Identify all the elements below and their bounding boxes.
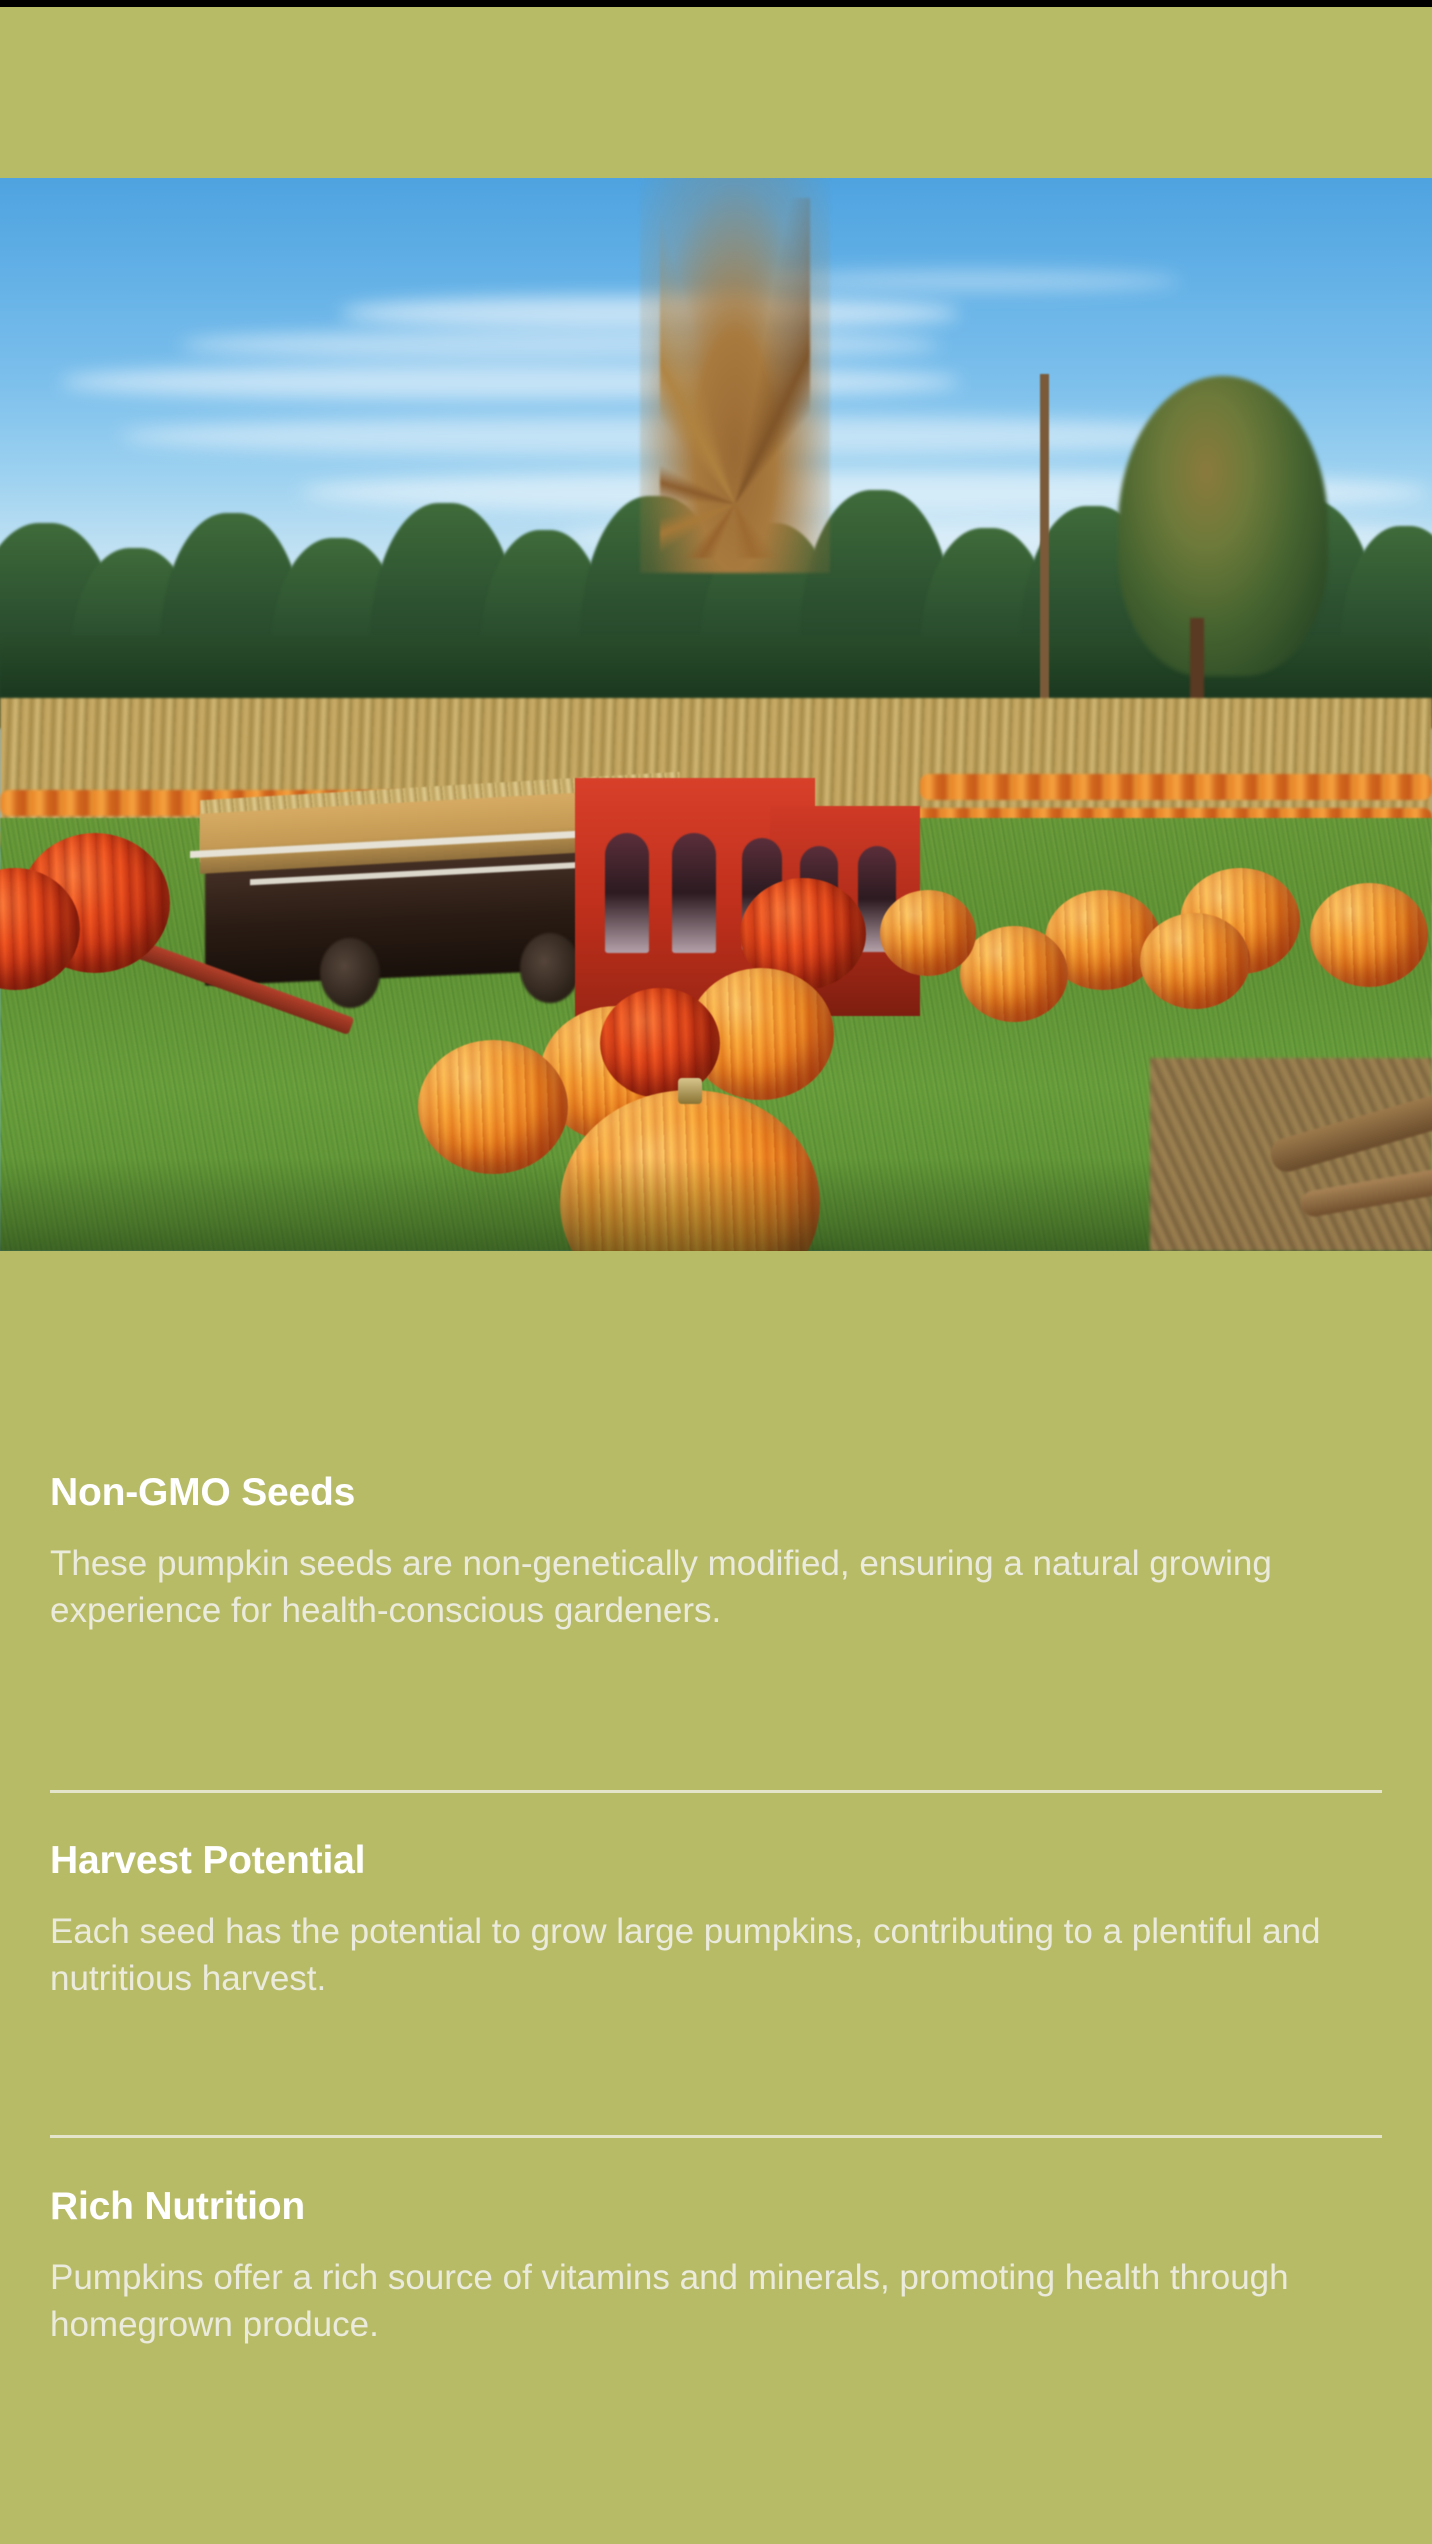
feature-body: Pumpkins offer a rich source of vitamins…	[50, 2254, 1370, 2348]
pumpkin	[960, 926, 1068, 1022]
hero-image	[0, 178, 1432, 1251]
product-detail-page: Non-GMO Seeds These pumpkin seeds are no…	[0, 0, 1432, 2544]
feature-body: These pumpkin seeds are non-genetically …	[50, 1540, 1370, 1634]
wagon-wheel	[320, 938, 380, 1008]
tree-trunk	[1190, 618, 1204, 708]
wagon-wheel	[520, 933, 580, 1003]
pumpkin-row	[920, 774, 1432, 800]
pumpkin	[1310, 883, 1428, 987]
feature-body: Each seed has the potential to grow larg…	[50, 1908, 1370, 2002]
feature-item-non-gmo-seeds: Non-GMO Seeds These pumpkin seeds are no…	[50, 1470, 1382, 1634]
pumpkin-stem	[678, 1078, 702, 1104]
feature-title: Harvest Potential	[50, 1838, 1382, 1884]
field-pole	[1040, 374, 1049, 704]
autumn-tree	[1118, 376, 1328, 676]
pumpkin	[418, 1040, 568, 1174]
corn-shock-detail	[660, 198, 810, 558]
feature-title: Non-GMO Seeds	[50, 1470, 1382, 1516]
feature-item-harvest-potential: Harvest Potential Each seed has the pote…	[50, 1838, 1382, 2002]
pumpkin-red	[600, 988, 720, 1098]
feature-divider	[50, 1790, 1382, 1793]
hero-top-spacer	[0, 7, 1432, 178]
status-bar	[0, 0, 1432, 7]
pumpkin	[880, 890, 976, 976]
feature-divider	[50, 2135, 1382, 2138]
carriage-window	[605, 833, 649, 953]
carriage-window	[672, 833, 716, 953]
feature-title: Rich Nutrition	[50, 2184, 1382, 2230]
pumpkin	[1140, 913, 1250, 1009]
feature-item-rich-nutrition: Rich Nutrition Pumpkins offer a rich sou…	[50, 2184, 1382, 2348]
